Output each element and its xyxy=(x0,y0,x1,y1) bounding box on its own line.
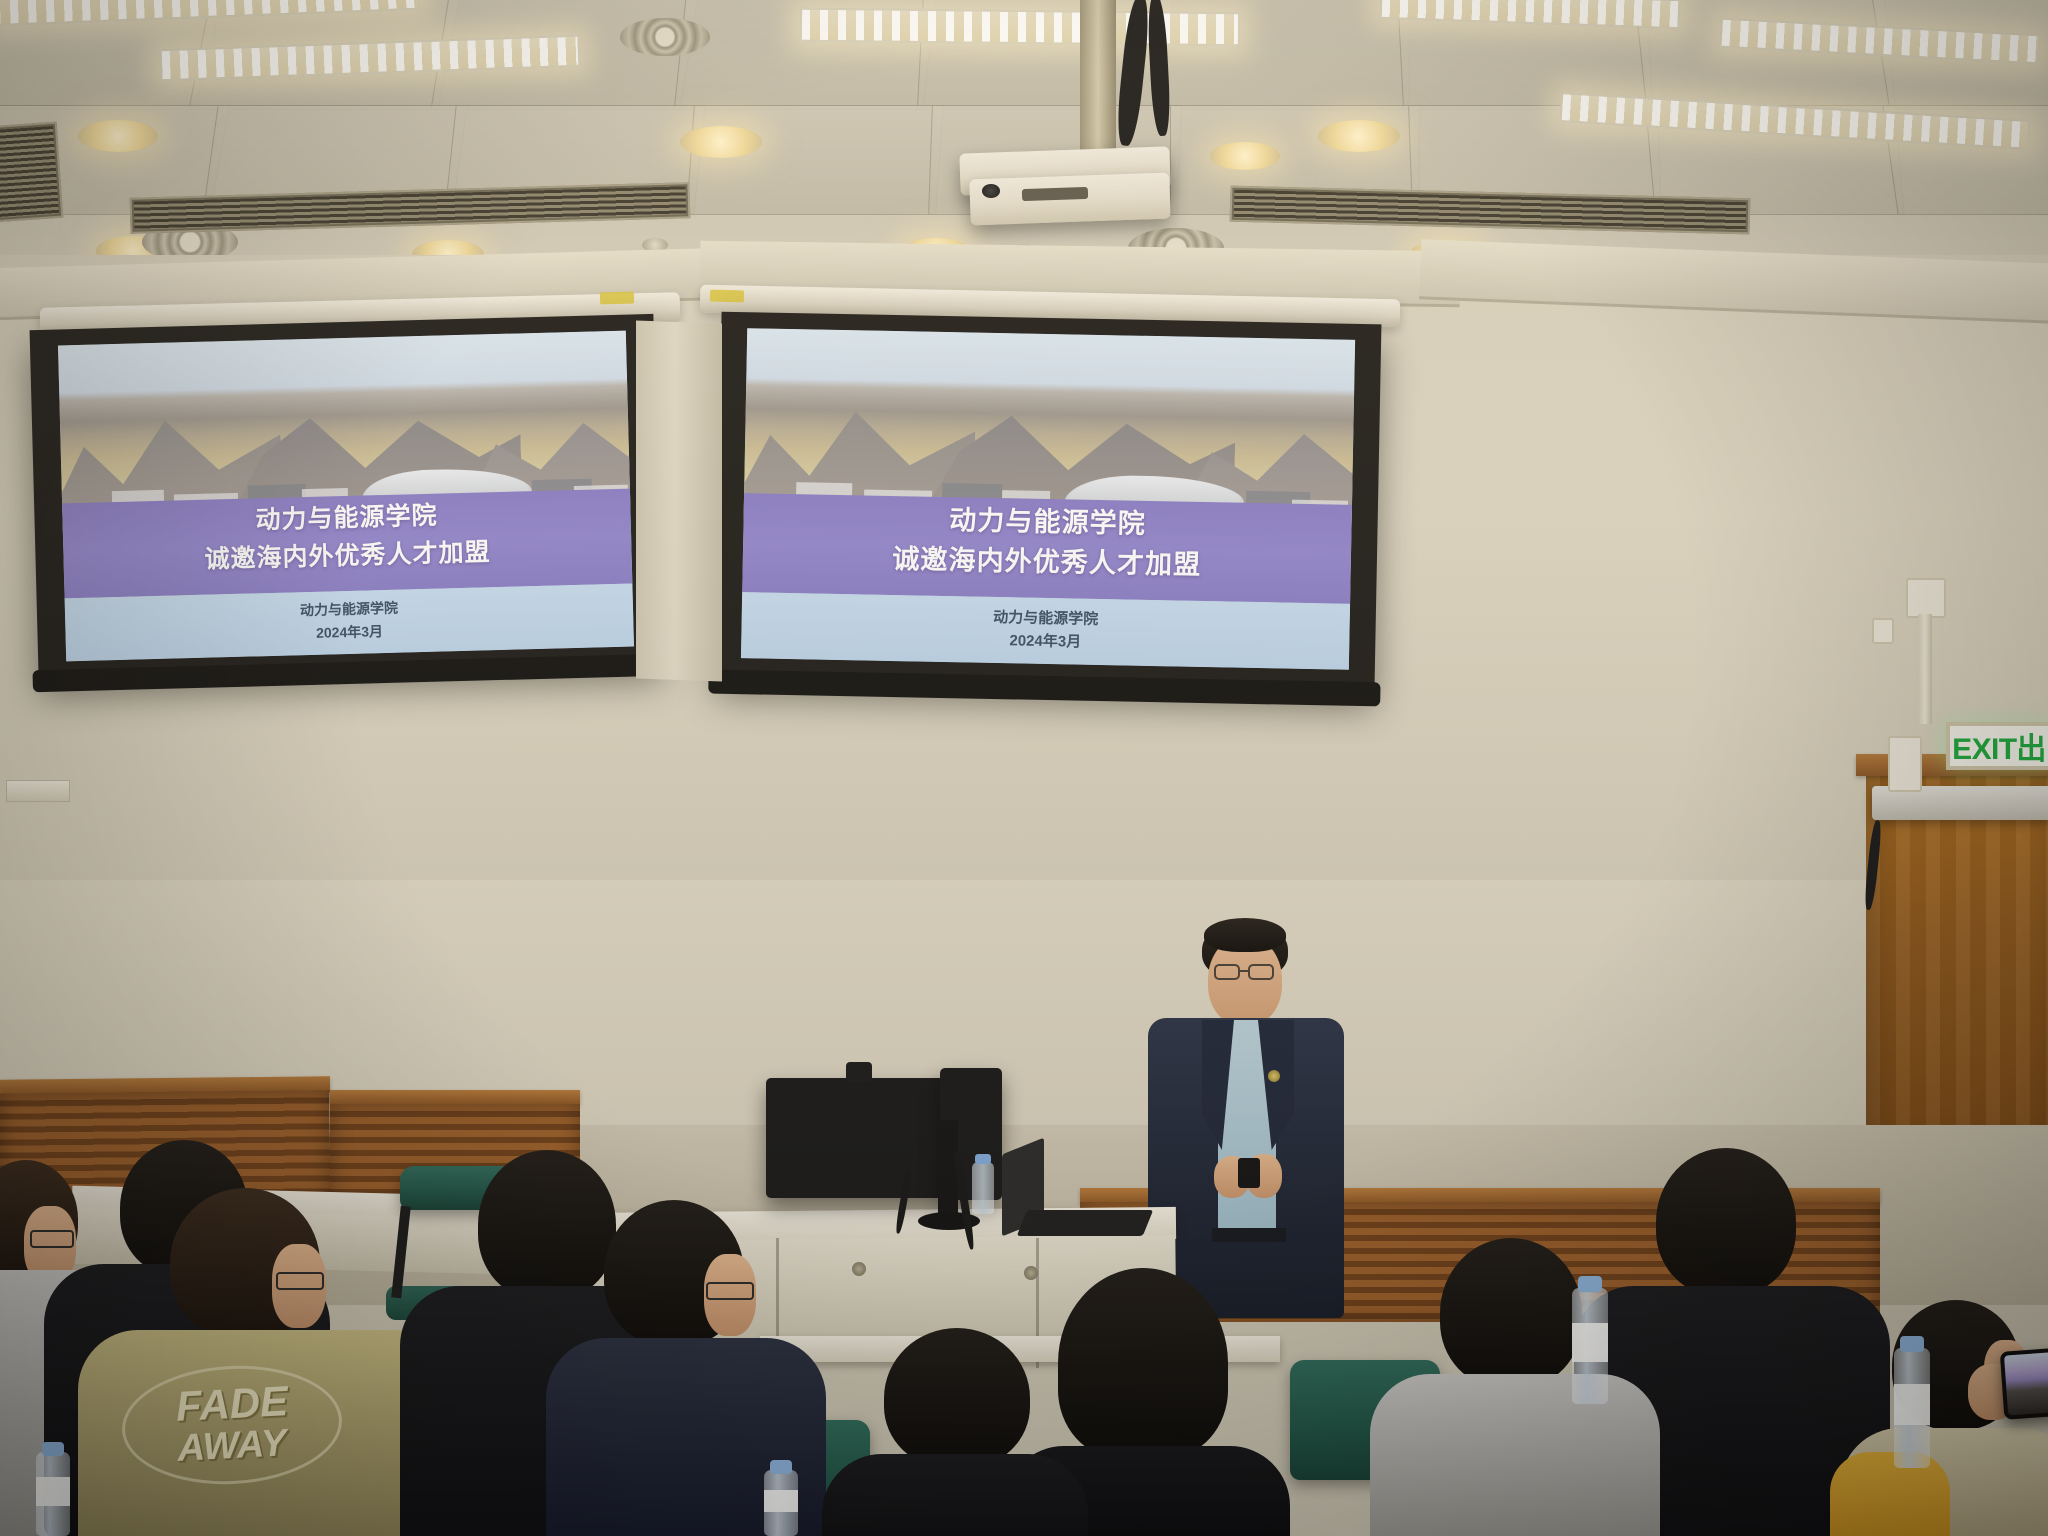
projector-mount-pole xyxy=(1080,0,1116,154)
wall-outlet xyxy=(1872,618,1894,644)
slide-title-line-2: 诚邀海内外优秀人才加盟 xyxy=(743,541,1351,585)
valance-marker xyxy=(600,292,634,305)
slide-title-line-1: 动力与能源学院 xyxy=(743,501,1351,545)
slide-title-line-2: 诚邀海内外优秀人才加盟 xyxy=(63,534,632,578)
bottle-cap xyxy=(975,1154,991,1164)
audience-member xyxy=(580,1200,780,1536)
presenter-lapel-pin xyxy=(1268,1070,1280,1082)
presenter-clicker xyxy=(1238,1158,1260,1188)
presenter-glasses-bridge xyxy=(1240,970,1248,972)
glasses-icon xyxy=(276,1272,324,1290)
lectern-monitor-primary xyxy=(766,1078,952,1198)
presenter-belt xyxy=(1212,1228,1286,1242)
presenter-laptop-base[interactable] xyxy=(1017,1210,1154,1236)
projected-slide-left: 动力与能源学院 诚邀海内外优秀人才加盟 动力与能源学院 2024年3月 xyxy=(58,331,634,662)
audience-member-photographer xyxy=(1850,1300,2048,1536)
smartphone[interactable] xyxy=(2000,1344,2048,1420)
slide-title-band: 动力与能源学院 诚邀海内外优秀人才加盟 xyxy=(62,489,632,599)
exit-sign-label: EXIT出 xyxy=(1952,724,2046,768)
wood-chair-rail xyxy=(330,1090,580,1104)
phone-screen xyxy=(2004,1349,2048,1416)
desk-water-bottle xyxy=(972,1162,994,1214)
presenter-hair-top xyxy=(1204,918,1286,952)
audience-member xyxy=(840,1328,1070,1536)
presenter-glasses xyxy=(1214,964,1240,980)
glasses-icon xyxy=(706,1282,754,1300)
left-screen: 动力与能源学院 诚邀海内外优秀人才加盟 动力与能源学院 2024年3月 xyxy=(30,314,663,678)
water-bottle xyxy=(1572,1288,1608,1404)
wall-av-box xyxy=(0,122,63,223)
valance-marker xyxy=(710,290,744,303)
slide-title-band: 动力与能源学院 诚邀海内外优秀人才加盟 xyxy=(742,493,1352,604)
presenter-glasses xyxy=(1248,964,1274,980)
ceiling-downlight xyxy=(680,126,762,158)
ceiling-strip-light xyxy=(800,8,1240,47)
water-bottle xyxy=(764,1470,798,1536)
lecture-hall-photo: 动力与能源学院 诚邀海内外优秀人才加盟 动力与能源学院 2024年3月 xyxy=(0,0,2048,1536)
projector-port-panel xyxy=(1022,187,1088,201)
water-bottle xyxy=(36,1452,70,1536)
water-bottle xyxy=(1894,1348,1930,1468)
glasses-icon xyxy=(30,1230,74,1248)
wall-plaque xyxy=(6,780,70,802)
projected-slide-right: 动力与能源学院 诚邀海内外优秀人才加盟 动力与能源学院 2024年3月 xyxy=(741,328,1355,670)
audience-member-fade-away: FADE AWAY xyxy=(96,1188,426,1536)
right-screen: 动力与能源学院 诚邀海内外优秀人才加盟 动力与能源学院 2024年3月 xyxy=(715,312,1382,691)
projector-lens xyxy=(982,184,1000,198)
bottle-cap xyxy=(1900,1336,1924,1352)
wall-pillar xyxy=(636,320,722,681)
ceiling-downlight xyxy=(78,120,158,152)
ceiling-downlight xyxy=(1210,142,1280,170)
wall-control-plate xyxy=(1888,736,1922,792)
bottle-cap xyxy=(770,1460,792,1474)
wall-junction-box xyxy=(1906,578,1946,618)
exit-sign: EXIT出 xyxy=(1946,722,2048,770)
ceiling-speaker xyxy=(620,18,710,56)
conduit xyxy=(1918,614,1932,724)
bottle-cap xyxy=(42,1442,64,1456)
slide-title-line-1: 动力与能源学院 xyxy=(62,496,631,540)
slide-footer: 动力与能源学院 2024年3月 xyxy=(741,592,1350,670)
webcam-icon xyxy=(846,1062,872,1082)
ceiling-downlight xyxy=(1318,120,1400,152)
desk-cabinet-knob[interactable] xyxy=(852,1262,866,1276)
bottle-cap xyxy=(1578,1276,1602,1292)
